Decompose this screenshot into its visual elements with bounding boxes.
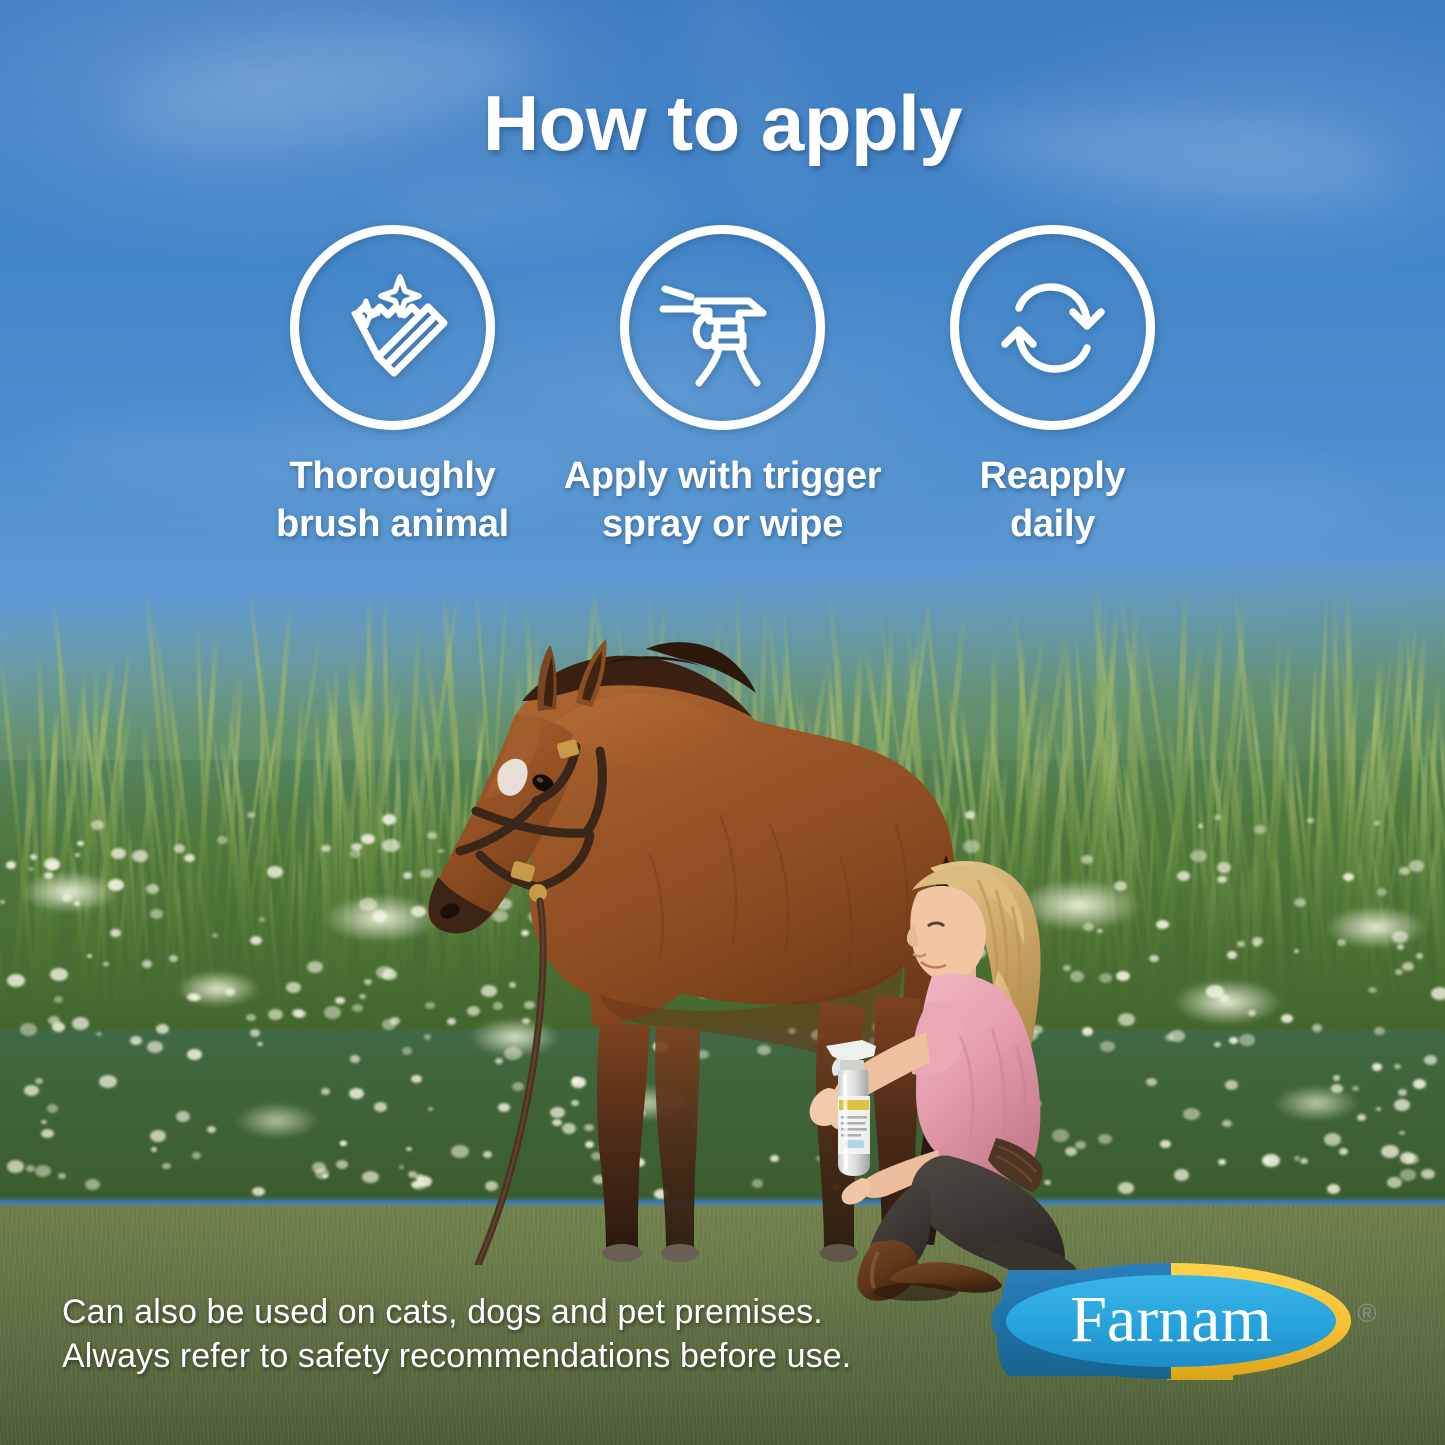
step-apply-with-trigger-spray: Apply with trigger spray or wipe xyxy=(558,225,888,549)
step-label: Reapply daily xyxy=(980,453,1126,549)
footer-disclaimer: Can also be used on cats, dogs and pet p… xyxy=(62,1290,851,1378)
brush-sparkle-icon xyxy=(290,225,495,430)
step-reapply-daily: Reapply daily xyxy=(888,225,1218,549)
registered-trademark-symbol: ® xyxy=(1357,1298,1376,1328)
step-thoroughly-brush-animal: Thoroughly brush animal xyxy=(228,225,558,549)
spray-bottle-product xyxy=(818,1034,888,1184)
trigger-spray-icon xyxy=(620,225,825,430)
logo-wordmark: Farnam xyxy=(1070,1283,1272,1356)
farnam-logo: Farnam ® xyxy=(985,1248,1405,1398)
steps-row: Thoroughly brush animal xyxy=(0,225,1445,549)
reapply-cycle-icon xyxy=(950,225,1155,430)
page-title: How to apply xyxy=(0,78,1445,169)
poster-canvas: How to apply Thoroughly brus xyxy=(0,0,1445,1445)
